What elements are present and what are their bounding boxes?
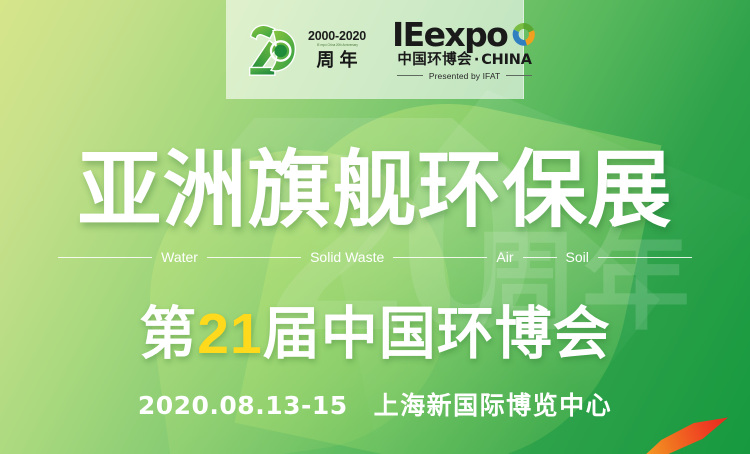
anniversary-years: 2000-2020 <box>308 30 366 43</box>
date-venue-bar: 2020.08.13-15 上海新国际博览中心 <box>0 393 750 419</box>
stream-label-soil: Soil <box>557 250 598 264</box>
sub-headline: 第21届中国环博会 <box>0 306 750 363</box>
sub-headline-edition-number: 21 <box>197 302 262 366</box>
presented-by-row: Presented by IFAT <box>392 71 537 81</box>
stream-rule-icon <box>393 257 487 258</box>
ieexpo-country: CHINA <box>481 53 532 68</box>
anniversary-text-group: 2000-2020 IE expo China 20th Anniversary… <box>308 30 366 69</box>
ieexpo-chinese-name: 中国环博会 <box>397 53 472 68</box>
stream-label-solid-waste: Solid Waste <box>301 250 393 264</box>
stream-label-water: Water <box>152 250 207 264</box>
stream-rule-icon <box>58 257 152 258</box>
logo-panel: 2000-2020 IE expo China 20th Anniversary… <box>226 0 524 99</box>
ieexpo-wordmark: IEexpo <box>392 18 507 51</box>
stream-rule-icon <box>523 257 557 258</box>
poster-canvas: 20 周年 <box>0 0 750 454</box>
stream-rule-icon <box>207 257 301 258</box>
stream-categories-strip: Water Solid Waste Air Soil <box>58 250 692 264</box>
ieexpo-wordmark-row: IEexpo <box>392 18 537 51</box>
stream-rule-icon <box>598 257 692 258</box>
anniversary-chinese: 周年 <box>311 51 362 69</box>
circular-arrows-logo-icon <box>510 21 537 48</box>
sub-headline-suffix: 届中国环博会 <box>263 302 611 366</box>
ieexpo-separator: · <box>474 53 479 68</box>
anniversary-micro-text: IE expo China 20th Anniversary <box>316 44 357 47</box>
sub-headline-prefix: 第 <box>139 302 197 366</box>
event-venue: 上海新国际博览中心 <box>374 394 613 419</box>
stream-label-air: Air <box>487 250 522 264</box>
event-date: 2020.08.13-15 <box>138 393 348 418</box>
anniversary-logo-group: 2000-2020 IE expo China 20th Anniversary… <box>240 19 366 81</box>
stylized-20-logo-icon <box>240 19 302 81</box>
presented-rule-right-icon <box>506 75 532 76</box>
presented-rule-left-icon <box>397 75 423 76</box>
presented-by-label: Presented by IFAT <box>429 71 500 81</box>
main-headline: 亚洲旗舰环保展 <box>0 148 750 232</box>
ieexpo-chinese-row: 中国环博会 · CHINA <box>397 53 531 68</box>
ieexpo-logo-group: IEexpo 中国环博会 · CHINA Presented by IFAT <box>392 18 537 81</box>
